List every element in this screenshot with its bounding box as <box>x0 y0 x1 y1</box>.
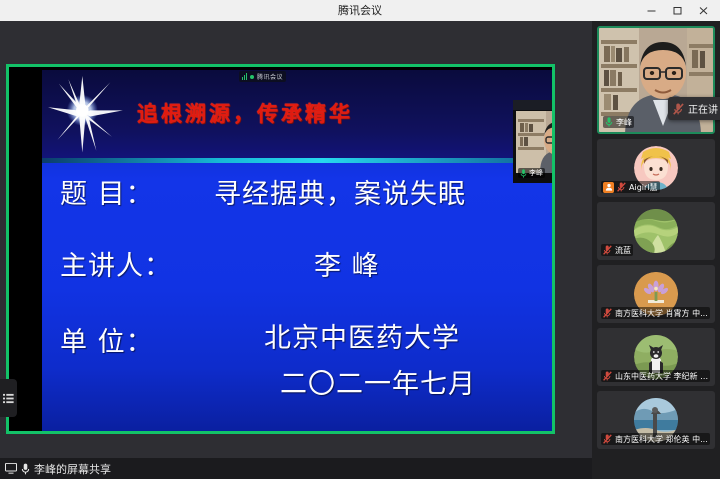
tencent-meeting-window: 腾讯会议 <box>0 0 720 479</box>
microphone-off-icon <box>603 371 612 381</box>
slide-banner-title: 追根溯源，传承精华 <box>137 98 497 128</box>
window-title: 腾讯会议 <box>0 0 720 21</box>
list-icon <box>3 393 14 404</box>
microphone-on-icon <box>605 117 613 127</box>
slide-row-value-affiliation: 北京中医药大学 <box>264 316 460 355</box>
screen-share-content: 追根溯源，传承精华 题 目： 寻经据典，案说失眠 主讲人： 李 峰 单 位： 北… <box>9 67 552 431</box>
participant-label: 南方医科大学 郑伦英 中... <box>601 433 710 445</box>
speaking-tooltip: 正在讲 <box>668 97 720 120</box>
participant-name: 南方医科大学 肖霄方 中... <box>615 308 708 319</box>
status-bar: 李峰的屏幕共享 <box>0 458 597 479</box>
slide-row-label-speaker: 主讲人： <box>60 244 172 283</box>
slide-divider-rule <box>42 158 552 163</box>
slide-row-value-topic: 寻经据典，案说失眠 <box>214 172 466 211</box>
participant-name: Aigirl慧 <box>629 182 658 193</box>
speaking-tooltip-text: 正在讲 <box>688 101 718 116</box>
participant-tile-aigirl[interactable]: Aigirl慧 <box>597 139 715 197</box>
nested-person-image <box>516 111 552 173</box>
screen-share-frame: 追根溯源，传承精华 题 目： 寻经据典，案说失眠 主讲人： 李 峰 单 位： 北… <box>6 64 555 434</box>
presentation-slide: 追根溯源，传承精华 题 目： 寻经据典，案说失眠 主讲人： 李 峰 单 位： 北… <box>42 70 552 431</box>
avatar-landscape-image <box>634 209 678 253</box>
slide-body: 题 目： 寻经据典，案说失眠 主讲人： 李 峰 单 位： 北京中医药大学 二〇二… <box>42 166 552 431</box>
close-button[interactable] <box>690 0 716 21</box>
window-controls <box>638 0 716 21</box>
participant-name: 山东中医药大学 李纪新 … <box>615 371 708 382</box>
slide-row-label-topic: 题 目： <box>60 172 154 211</box>
avatar <box>634 209 678 253</box>
participant-name: 李峰 <box>616 117 632 128</box>
nested-self-view-camera <box>516 111 552 173</box>
participant-label: 山东中医药大学 李纪新 … <box>601 370 710 382</box>
participant-label: Aigirl慧 <box>601 181 660 193</box>
sharing-status-text: 李峰的屏幕共享 <box>34 461 111 477</box>
shared-meeting-indicator: 腾讯会议 <box>239 71 286 82</box>
slide-date-line: 二〇二一年七月 <box>280 362 476 401</box>
participant-panel[interactable]: 李峰 <box>592 21 720 479</box>
minimize-button[interactable] <box>638 0 664 21</box>
recording-dot-icon <box>250 75 254 79</box>
left-panel-toggle[interactable] <box>0 379 17 417</box>
microphone-off-icon <box>617 182 626 192</box>
shared-meeting-indicator-label: 腾讯会议 <box>257 72 283 81</box>
signal-icon <box>242 73 247 80</box>
microphone-off-icon <box>673 103 684 115</box>
maximize-button[interactable] <box>664 0 690 21</box>
participant-tile-li-jixin[interactable]: 山东中医药大学 李纪新 … <box>597 328 715 386</box>
nested-self-view-titlebar <box>513 100 552 110</box>
title-bar: 腾讯会议 <box>0 0 720 22</box>
participant-label: 李峰 <box>603 116 634 128</box>
participant-tile-xiao[interactable]: 南方医科大学 肖霄方 中... <box>597 265 715 323</box>
participant-label: 流蓝 <box>601 244 633 256</box>
microphone-off-icon <box>603 308 612 318</box>
slide-row-value-speaker: 李 峰 <box>314 244 380 283</box>
shared-screen-stage: 追根溯源，传承精华 题 目： 寻经据典，案说失眠 主讲人： 李 峰 单 位： 北… <box>0 21 592 458</box>
participant-tile-zheng[interactable]: 南方医科大学 郑伦英 中... <box>597 391 715 449</box>
microphone-off-icon <box>603 434 612 444</box>
microphone-off-icon <box>603 245 612 255</box>
host-badge-icon <box>603 182 614 193</box>
nested-self-view-name: 李峰 <box>529 168 543 178</box>
microphone-on-icon <box>520 169 527 178</box>
slide-row-label-affiliation: 单 位： <box>60 320 154 359</box>
screen-share-icon <box>5 463 17 474</box>
nested-self-view: 李峰 <box>513 100 552 183</box>
participant-tile-liulan[interactable]: 流蓝 <box>597 202 715 260</box>
participant-name: 流蓝 <box>615 245 631 256</box>
microphone-icon <box>21 463 30 475</box>
participant-name: 南方医科大学 郑伦英 中... <box>615 434 708 445</box>
participant-label: 南方医科大学 肖霄方 中... <box>601 307 710 319</box>
nested-self-view-label: 李峰 <box>518 168 545 178</box>
